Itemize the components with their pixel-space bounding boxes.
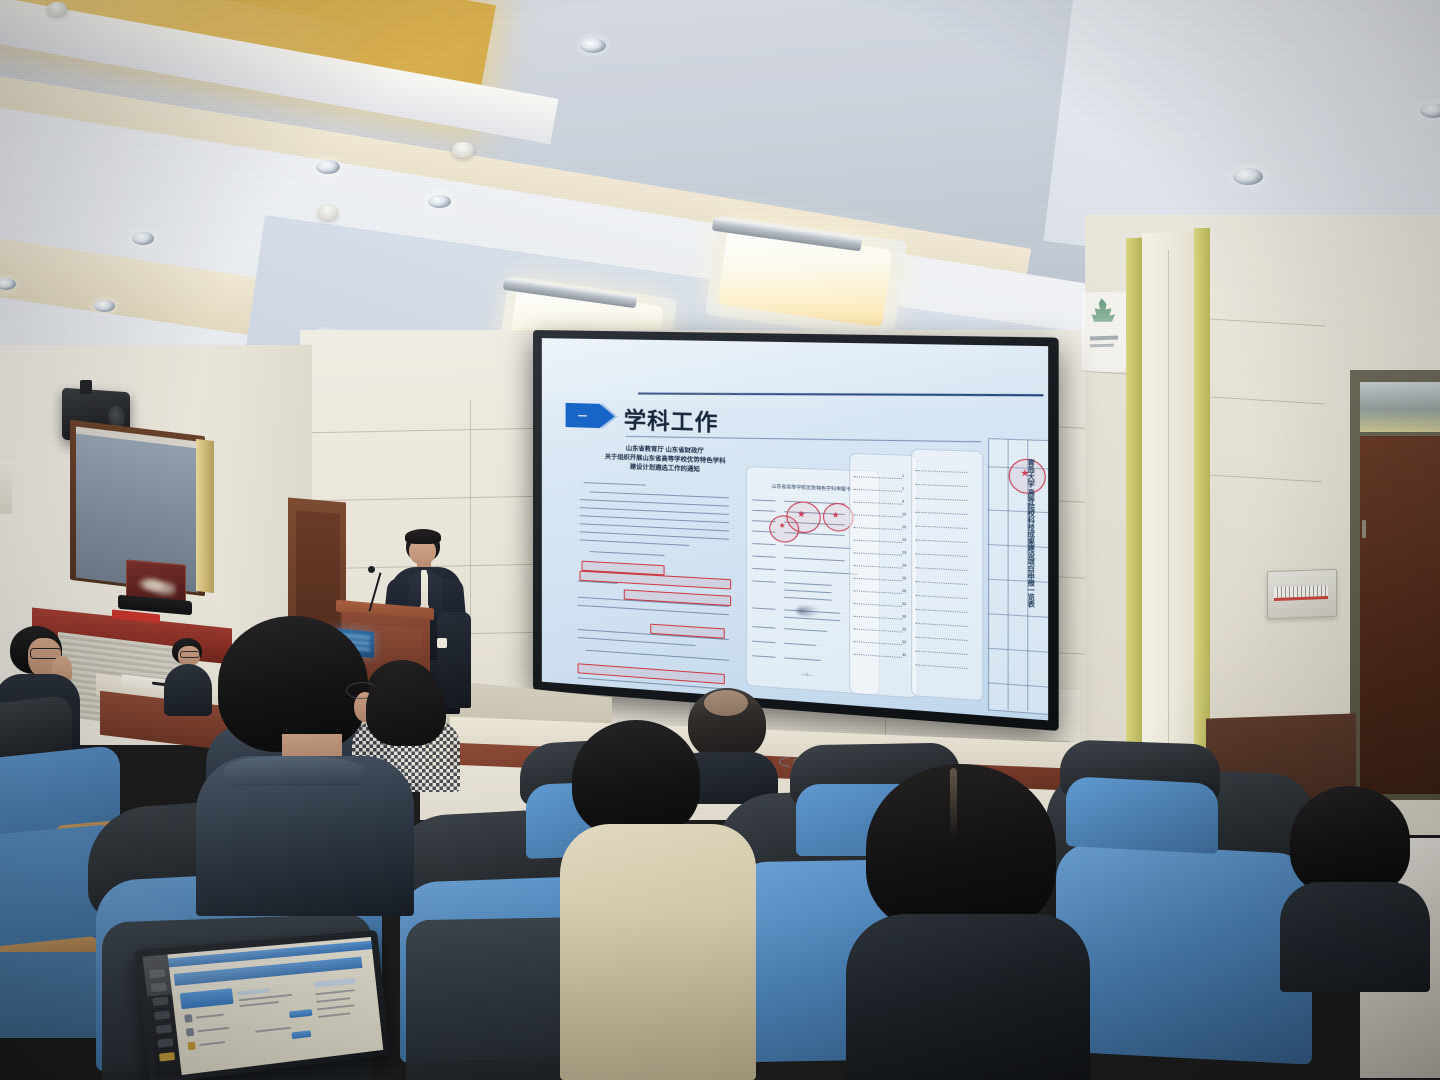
list-icon[interactable]: [187, 1042, 195, 1051]
microphone-head-icon: [368, 566, 375, 573]
right-panel-text: [317, 1004, 355, 1010]
collar: [224, 756, 364, 786]
slide-surface: 一 学科工作 山东省教育厅 山东省财政厅 关于组织开展山东省高等学校优势特色学科…: [542, 338, 1048, 720]
toc-number: 40: [902, 653, 906, 658]
slide-title: 学科工作: [624, 402, 719, 438]
toc-number: 32: [902, 627, 906, 632]
stamp-star-icon: ★: [779, 522, 786, 530]
action-button[interactable]: [291, 1030, 311, 1039]
downlight-icon: [132, 232, 154, 245]
torso: [846, 914, 1090, 1080]
list-icon[interactable]: [186, 1028, 194, 1037]
projection-display[interactable]: 一 学科工作 山东省教育厅 山东省财政厅 关于组织开展山东省高等学校优势特色学科…: [533, 330, 1059, 731]
content-text: [239, 1001, 279, 1007]
content-text: [197, 1027, 229, 1032]
wall-sconce-icon: [0, 460, 12, 514]
action-button[interactable]: [289, 1009, 312, 1018]
attendee-right-mid: [1290, 786, 1430, 986]
door-leaf: [1360, 436, 1440, 794]
head: [866, 764, 1056, 934]
attendee-bob-hair: [366, 670, 458, 760]
content-chip: [238, 988, 271, 995]
toc-number: 26: [902, 576, 906, 580]
right-panel-text: [318, 1012, 351, 1017]
content-text: [239, 994, 293, 1001]
door-transom: [1360, 382, 1440, 432]
list-icon[interactable]: [184, 1014, 192, 1023]
smoke-detector-icon: [452, 142, 474, 158]
downlight-icon: [1420, 103, 1440, 118]
form-page-number: —1—: [801, 671, 812, 677]
sidebar-icon[interactable]: [156, 1024, 172, 1034]
slide-title-rule: [626, 436, 981, 443]
toc-number: 10: [902, 512, 906, 516]
right-panel-text: [315, 989, 355, 995]
section-badge-label: 一: [578, 409, 587, 422]
speaker-mount: [80, 380, 92, 394]
content-text: [196, 1014, 224, 1019]
toc-card-2: [911, 449, 983, 702]
torso-beige: [560, 824, 756, 1080]
toc-number: 28: [902, 589, 906, 594]
scalp: [704, 690, 748, 716]
attendee-front-center: [196, 616, 416, 906]
toc-number: 31: [902, 602, 906, 607]
open-laptop-foreground[interactable]: [134, 930, 391, 1080]
toc-number: 23: [902, 551, 906, 555]
downlight-icon: [580, 38, 606, 53]
doc-body-block: [580, 482, 732, 488]
toc-number: 30: [902, 614, 906, 619]
shirt-cuff: [437, 638, 447, 648]
head: [1290, 786, 1410, 896]
section-badge: 一: [566, 403, 600, 428]
downlight-icon: [94, 300, 115, 312]
curtain: [196, 439, 214, 593]
downlight-icon: [428, 195, 451, 208]
head: [218, 616, 368, 752]
toc-number: 1: [902, 487, 904, 491]
toc-number: 1: [902, 474, 904, 478]
downlight-icon: [1233, 168, 1263, 185]
artwork-motif-icon: [136, 570, 176, 597]
presenter-hair: [405, 529, 441, 544]
head: [366, 670, 446, 746]
toc-number: 23: [902, 538, 906, 542]
toc-number: 24: [902, 563, 906, 567]
door-hinge-icon: [1362, 520, 1366, 538]
attendee-long-hair-right: [846, 764, 1096, 1080]
hair-part: [950, 768, 957, 838]
highlight-box: [578, 663, 725, 684]
document-header: 山东省教育厅 山东省财政厅 关于组织开展山东省高等学校优势特色学科 建设计划遴选…: [584, 444, 748, 478]
toc-number: 20: [902, 525, 906, 529]
smoke-detector-icon: [318, 205, 338, 220]
sidebar-icon[interactable]: [152, 997, 168, 1006]
smoke-detector-icon: [47, 2, 67, 16]
content-text: [255, 1027, 291, 1033]
sidebar-icon[interactable]: [154, 1010, 170, 1020]
right-panel-text: [316, 997, 350, 1002]
conference-hall-photo: 一 学科工作 山东省教育厅 山东省财政厅 关于组织开展山东省高等学校优势特色学科…: [0, 0, 1440, 1080]
toc-number: 4: [902, 499, 904, 503]
stamp-star-icon: ★: [832, 511, 840, 520]
stamp-star-icon: ★: [797, 510, 806, 520]
slide-top-rule: [638, 393, 1043, 397]
vertical-annotation: 青岛大学 高等院校科技成果建设项目申报一览表: [1025, 459, 1035, 699]
attendee-beige-coat: [560, 720, 760, 1080]
torso: [1280, 882, 1430, 992]
head: [572, 720, 700, 838]
toc-number: 32: [902, 640, 906, 645]
chevron-outline-icon: [602, 403, 618, 430]
downlight-icon: [316, 160, 340, 174]
content-text: [199, 1041, 225, 1046]
